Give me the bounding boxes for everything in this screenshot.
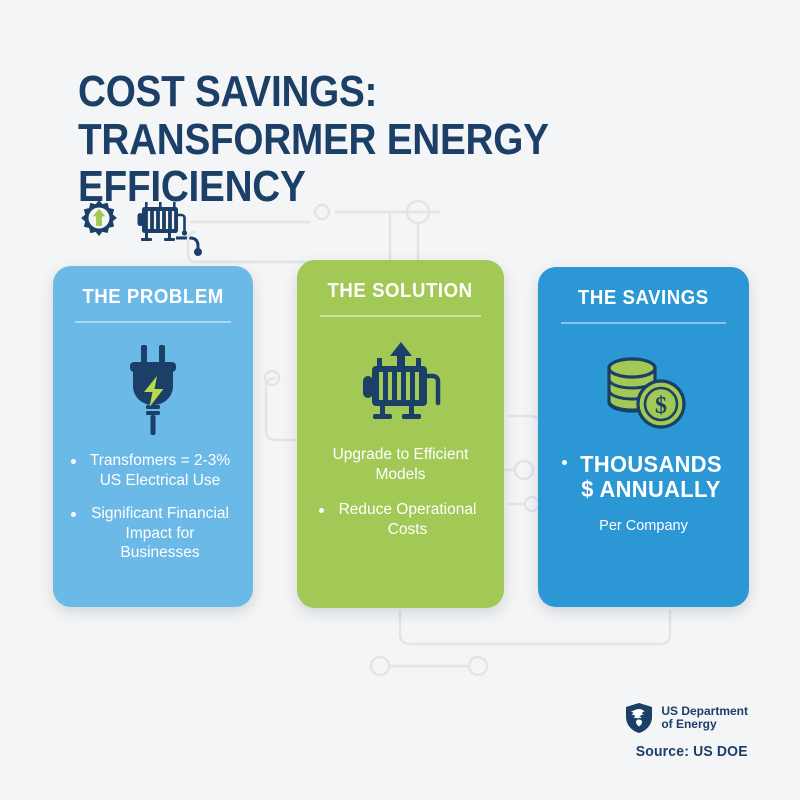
bullet-dot-icon [71, 512, 76, 517]
card-savings-divider [561, 322, 726, 324]
footer: US Department of Energy Source: US DOE [624, 702, 748, 760]
page-title: COST SAVINGS: TRANSFORMER ENERGY EFFICIE… [78, 68, 685, 211]
card-savings-body: THOUSANDS $ ANNUALLY Per Company [538, 452, 749, 535]
top-icon-cluster [74, 198, 188, 248]
card-problem-heading: THE PROBLEM [82, 286, 224, 309]
doe-logo-line2: of Energy [661, 718, 748, 731]
electric-plug-icon [122, 341, 184, 437]
doe-logo-text: US Department of Energy [661, 705, 748, 732]
transformer-icon [134, 200, 188, 246]
savings-headline: THOUSANDS $ ANNUALLY [579, 452, 722, 503]
bullet-dot-icon [71, 459, 76, 464]
svg-text:$: $ [655, 393, 667, 419]
coin-stack-dollar-icon: $ [599, 342, 689, 438]
bullet-dot-icon [562, 460, 567, 465]
card-savings-heading: THE SAVINGS [578, 287, 709, 310]
card-solution[interactable]: THE SOLUTION [297, 260, 504, 608]
source-credit: Source: US DOE [633, 743, 748, 760]
list-item: THOUSANDS $ ANNUALLY [552, 452, 735, 503]
card-problem-body: Transfomers = 2-3% US Electrical Use Sig… [53, 451, 253, 577]
doe-logo-line1: US Department [661, 705, 748, 718]
card-savings[interactable]: THE SAVINGS $ THOUSANDS $ [538, 267, 749, 607]
savings-subtext: Per Company [552, 517, 735, 535]
gear-up-arrow-icon [74, 198, 124, 248]
card-solution-divider [320, 315, 481, 317]
transformer-upgrade-icon [353, 335, 449, 431]
list-item-label: Transfomers = 2-3% US Electrical Use [85, 451, 235, 490]
list-item: Significant Financial Impact for Busines… [67, 504, 239, 563]
doe-logo-lockup: US Department of Energy [624, 702, 748, 734]
infographic-canvas: COST SAVINGS: TRANSFORMER ENERGY EFFICIE… [0, 0, 800, 800]
list-item-label: Significant Financial Impact for Busines… [85, 504, 235, 563]
list-item: Reduce Operational Costs [311, 500, 490, 539]
list-item-label: Reduce Operational Costs [333, 500, 483, 539]
solution-headline: Upgrade to Efficient Models [311, 445, 490, 484]
bullet-dot-icon [319, 508, 324, 513]
list-item: Transfomers = 2-3% US Electrical Use [67, 451, 239, 490]
card-problem[interactable]: THE PROBLEM Transfomers = 2-3% US Elec [53, 266, 253, 607]
card-problem-divider [75, 321, 231, 323]
card-solution-body: Upgrade to Efficient Models Reduce Opera… [297, 445, 504, 553]
doe-shield-eagle-icon [624, 702, 654, 734]
card-solution-heading: THE SOLUTION [328, 280, 473, 303]
